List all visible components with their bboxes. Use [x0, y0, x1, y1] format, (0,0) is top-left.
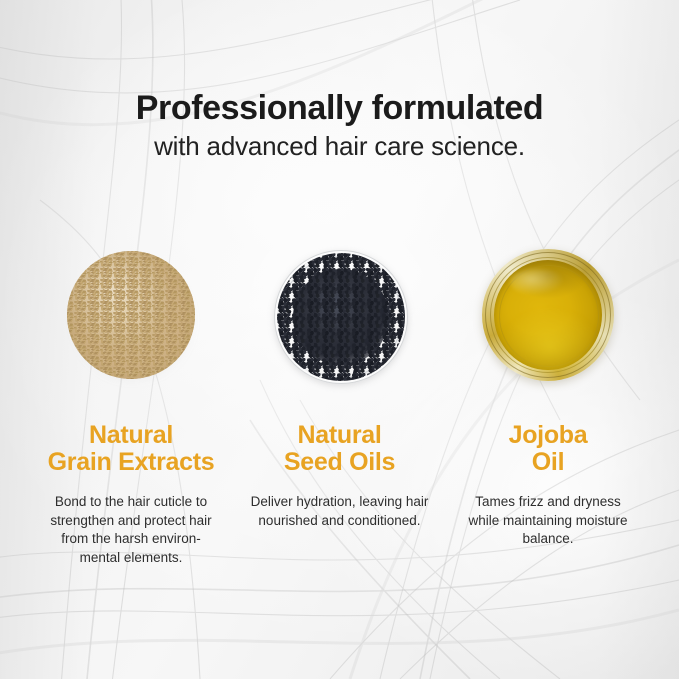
ingredient-description: Bond to the hair cuticle to strengthen a… — [36, 493, 226, 567]
ingredient-column-grain-extracts: Natural Grain Extracts Bond to the hair … — [28, 248, 234, 567]
ingredient-columns: Natural Grain Extracts Bond to the hair … — [0, 248, 679, 567]
infographic-canvas: Professionally formulated with advanced … — [0, 0, 679, 679]
header: Professionally formulated with advanced … — [0, 88, 679, 162]
petri-dish-graphic — [274, 250, 408, 384]
oil-bowl-icon — [481, 248, 615, 382]
ingredient-description: Deliver hydration, leaving hair nourishe… — [245, 493, 435, 530]
ingredient-column-seed-oils: Natural Seed Oils Deliver hydration, lea… — [237, 248, 443, 567]
ingredient-column-jojoba-oil: Jojoba Oil Tames frizz and dryness while… — [445, 248, 651, 567]
page-title: Professionally formulated — [0, 88, 679, 128]
page-subtitle: with advanced hair care science. — [0, 130, 679, 162]
ingredient-heading: Jojoba Oil — [509, 422, 588, 476]
oil-glow — [498, 307, 602, 373]
ingredient-heading: Natural Grain Extracts — [48, 422, 215, 476]
grain-pile-icon — [64, 248, 198, 382]
grain-pile-graphic — [67, 251, 195, 379]
oil-bowl-graphic — [482, 249, 614, 381]
oil-highlight — [510, 269, 564, 295]
ingredient-description: Tames frizz and dryness while maintainin… — [453, 493, 643, 549]
ingredient-heading: Natural Seed Oils — [284, 422, 395, 476]
seed-cluster — [293, 269, 389, 365]
petri-dish-seeds-icon — [273, 248, 407, 382]
